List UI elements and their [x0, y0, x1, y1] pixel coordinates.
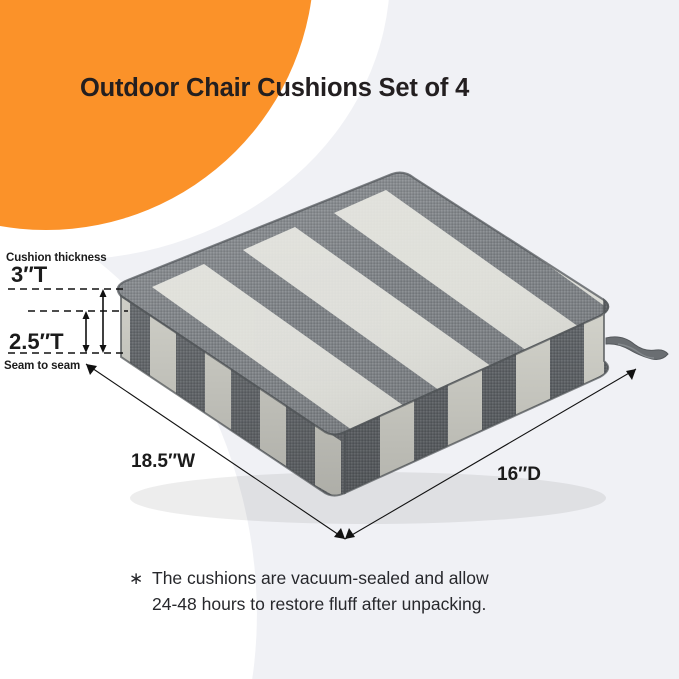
depth-value: 16″D [497, 464, 541, 486]
footnote-line-2: 24-48 hours to restore fluff after unpac… [129, 591, 599, 617]
asterisk-icon: ∗ [129, 566, 143, 592]
footnote: ∗ The cushions are vacuum-sealed and all… [129, 565, 599, 617]
thickness-arrow-3t [100, 289, 107, 353]
seam-caption: Seam to seam [4, 360, 80, 372]
tie-strap [606, 337, 668, 360]
cushion-top-face [100, 160, 640, 460]
seam-value: 2.5″T [9, 329, 64, 355]
thickness-arrow-25t [83, 311, 90, 353]
infographic-canvas: Outdoor Chair Cushions Set of 4 [0, 0, 679, 679]
thickness-value: 3″T [11, 262, 47, 288]
footnote-line-1: The cushions are vacuum-sealed and allow [129, 565, 599, 591]
width-value: 18.5″W [131, 451, 195, 473]
